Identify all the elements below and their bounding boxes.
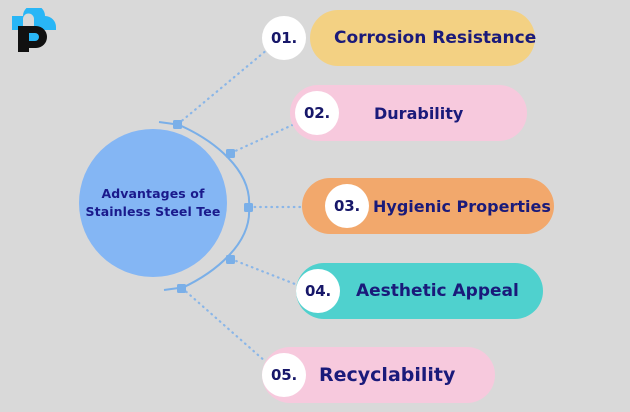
central-hub: Advantages of Stainless Steel Tee bbox=[79, 129, 227, 277]
arc-node-03 bbox=[244, 203, 253, 212]
item-badge-03[interactable]: 03. bbox=[325, 184, 369, 228]
item-pill-01[interactable]: Corrosion Resistance bbox=[310, 10, 535, 66]
item-label-04: Aesthetic Appeal bbox=[356, 281, 519, 301]
leader-line-01 bbox=[178, 49, 268, 124]
item-number-05: 05. bbox=[271, 366, 297, 384]
arc-node-01 bbox=[173, 120, 182, 129]
item-number-02: 02. bbox=[304, 104, 330, 122]
item-badge-02[interactable]: 02. bbox=[295, 91, 339, 135]
leader-line-04 bbox=[231, 259, 300, 286]
arc-node-05 bbox=[177, 284, 186, 293]
item-label-01: Corrosion Resistance bbox=[334, 28, 536, 48]
leader-line-05 bbox=[182, 288, 266, 362]
arc-node-04 bbox=[226, 255, 235, 264]
hub-title-line1: Advantages of bbox=[101, 186, 204, 201]
item-label-05: Recyclability bbox=[319, 364, 455, 386]
item-row-04[interactable]: Aesthetic Appeal 04. bbox=[296, 263, 556, 319]
item-row-05[interactable]: Recyclability 05. bbox=[262, 347, 502, 403]
item-badge-01[interactable]: 01. bbox=[262, 16, 306, 60]
item-number-04: 04. bbox=[305, 282, 331, 300]
item-number-01: 01. bbox=[271, 29, 297, 47]
item-row-02[interactable]: Durability 02. bbox=[290, 85, 540, 141]
leader-line-02 bbox=[231, 122, 299, 153]
infographic-canvas: Advantages of Stainless Steel Tee Corros… bbox=[0, 0, 630, 412]
item-label-02: Durability bbox=[374, 104, 463, 123]
item-badge-05[interactable]: 05. bbox=[262, 353, 306, 397]
arc-node-02 bbox=[226, 149, 235, 158]
item-number-03: 03. bbox=[334, 197, 360, 215]
item-label-03: Hygienic Properties bbox=[373, 197, 551, 216]
item-badge-04[interactable]: 04. bbox=[296, 269, 340, 313]
item-row-01[interactable]: Corrosion Resistance 01. bbox=[262, 10, 552, 66]
item-row-03[interactable]: Hygienic Properties 03. bbox=[302, 178, 567, 234]
hub-title-line2: Stainless Steel Tee bbox=[86, 204, 221, 219]
hub-title: Advantages of Stainless Steel Tee bbox=[80, 185, 227, 221]
